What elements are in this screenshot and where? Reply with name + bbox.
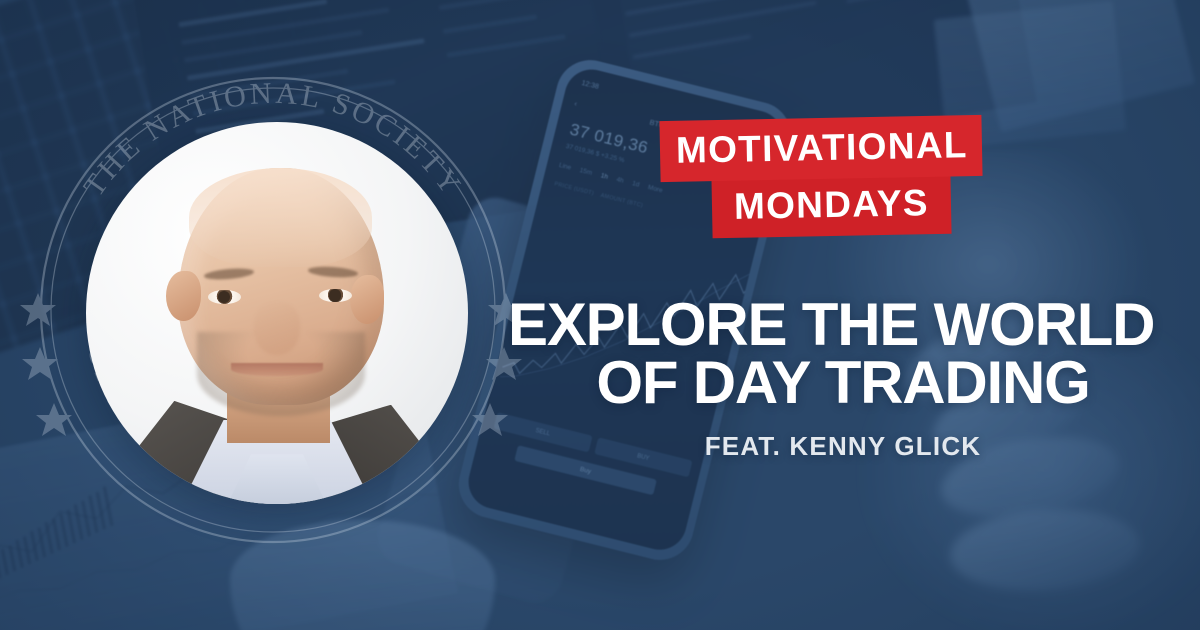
pupil-right — [329, 289, 341, 301]
featuring-line: FEAT. KENNY GLICK — [508, 431, 1178, 462]
nose — [254, 302, 300, 355]
headline-block: EXPLORE THE WORLD OF DAY TRADING FEAT. K… — [508, 296, 1178, 462]
ear-right — [350, 275, 384, 325]
headline-line-1: EXPLORE THE WORLD — [508, 296, 1178, 354]
scalp-highlight — [189, 168, 372, 267]
headline-line-2: OF DAY TRADING — [508, 354, 1178, 412]
portrait-photo — [86, 122, 468, 504]
series-badge-group: MOTIVATIONAL MONDAYS — [660, 118, 982, 236]
promo-graphic: 12:38 ▮▮ ▰ ▮ ‹ BTC / USDT ☆ 37 019,36 37… — [0, 0, 1200, 630]
badge-mondays: MONDAYS — [711, 173, 951, 239]
speaker-portrait — [86, 122, 468, 504]
ear-left — [166, 271, 200, 321]
badge-motivational: MOTIVATIONAL — [659, 115, 982, 182]
